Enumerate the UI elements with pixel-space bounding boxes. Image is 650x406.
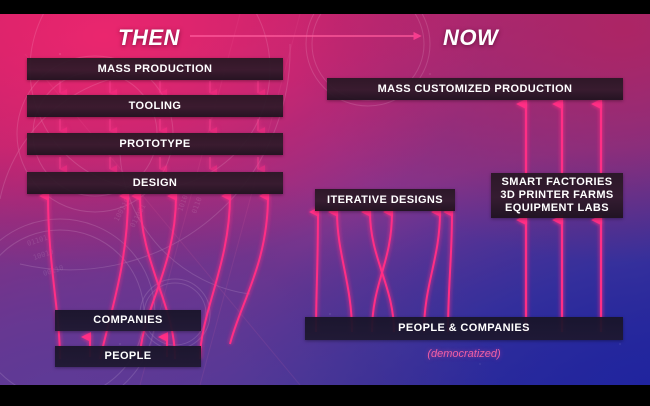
- box-people-and-companies[interactable]: PEOPLE & COMPANIES: [305, 317, 623, 340]
- democratized-caption: (democratized): [305, 348, 623, 360]
- box-label: MASS CUSTOMIZED PRODUCTION: [378, 83, 573, 96]
- box-label: MASS PRODUCTION: [98, 63, 213, 76]
- box-tooling[interactable]: TOOLING: [27, 95, 283, 117]
- box-prototype[interactable]: PROTOTYPE: [27, 133, 283, 155]
- era-label-now: NOW: [443, 25, 498, 51]
- box-label: DESIGN: [133, 177, 178, 190]
- box-label-line-2: 3D PRINTER FARMS: [500, 189, 613, 202]
- era-label-then: THEN: [118, 25, 180, 51]
- letterbox-top: [0, 0, 650, 14]
- box-label: COMPANIES: [93, 314, 162, 327]
- box-label: PEOPLE & COMPANIES: [398, 322, 530, 335]
- box-label: PEOPLE: [104, 350, 151, 363]
- letterbox-bottom: [0, 385, 650, 406]
- box-mass-customized-production[interactable]: MASS CUSTOMIZED PRODUCTION: [327, 78, 623, 100]
- slide-canvas: 01101 10010 00110 100110 011001 1010 011…: [0, 0, 650, 406]
- box-label: PROTOTYPE: [119, 138, 190, 151]
- box-label-line-3: EQUIPMENT LABS: [505, 202, 609, 215]
- box-smart-factories[interactable]: SMART FACTORIES 3D PRINTER FARMS EQUIPME…: [491, 173, 623, 218]
- box-mass-production[interactable]: MASS PRODUCTION: [27, 58, 283, 80]
- box-label-line-1: SMART FACTORIES: [502, 176, 613, 189]
- box-design[interactable]: DESIGN: [27, 172, 283, 194]
- box-companies[interactable]: COMPANIES: [55, 310, 201, 331]
- box-people[interactable]: PEOPLE: [55, 346, 201, 367]
- box-iterative-designs[interactable]: ITERATIVE DESIGNS: [315, 189, 455, 211]
- box-label: ITERATIVE DESIGNS: [327, 194, 443, 207]
- box-label: TOOLING: [129, 100, 182, 113]
